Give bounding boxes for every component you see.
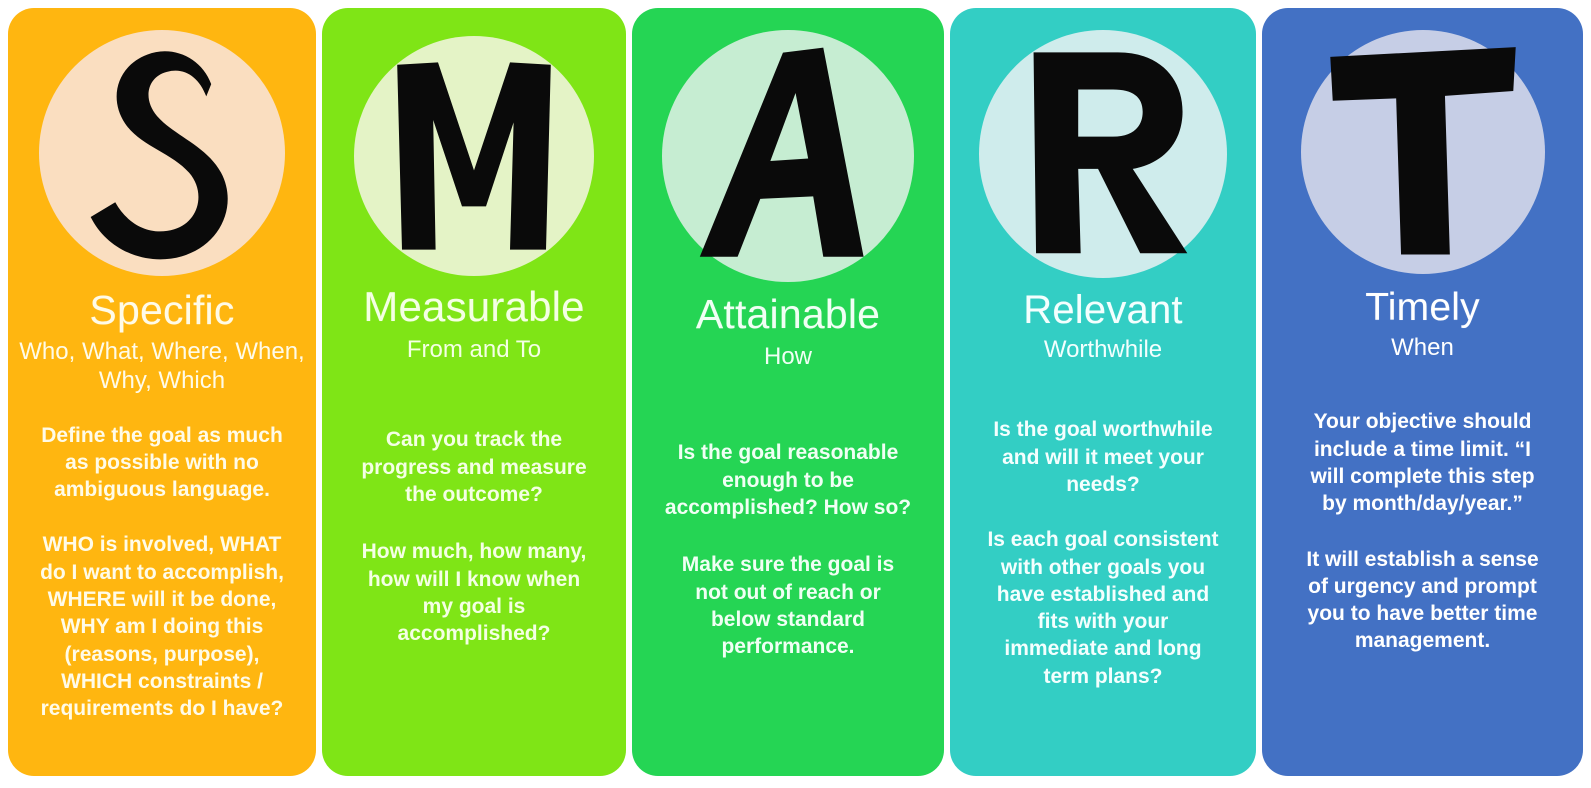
card-paragraph: It will establish a sense of urgency and… bbox=[1276, 546, 1569, 655]
card-relevant[interactable]: Relevant Worthwhile Is the goal worthwhi… bbox=[950, 8, 1256, 776]
card-subtitle: Who, What, Where, When, Why, Which bbox=[8, 337, 316, 396]
smart-goals-infographic: Specific Who, What, Where, When, Why, Wh… bbox=[0, 0, 1591, 788]
card-subtitle: How bbox=[632, 343, 944, 371]
card-body: Define the goal as much as possible with… bbox=[8, 422, 316, 723]
letter-badge-timely bbox=[1301, 30, 1545, 274]
card-specific[interactable]: Specific Who, What, Where, When, Why, Wh… bbox=[8, 8, 316, 776]
card-title: Measurable bbox=[322, 286, 626, 328]
letter-badge-specific bbox=[39, 30, 285, 276]
card-subtitle: From and To bbox=[322, 336, 626, 364]
card-body: Your objective should include a time lim… bbox=[1262, 408, 1583, 654]
card-paragraph: WHO is involved, WHAT do I want to accom… bbox=[22, 531, 302, 722]
card-title: Attainable bbox=[632, 294, 944, 335]
card-paragraph: Define the goal as much as possible with… bbox=[22, 422, 302, 504]
card-title: Relevant bbox=[950, 290, 1256, 330]
letter-s-glyph bbox=[39, 30, 285, 276]
card-body: Can you track the progress and measure t… bbox=[322, 426, 626, 647]
letter-badge-relevant bbox=[979, 30, 1227, 278]
card-paragraph: Is the goal worthwhile and will it meet … bbox=[964, 416, 1242, 498]
card-title: Specific bbox=[8, 290, 316, 331]
card-paragraph: Make sure the goal is not out of reach o… bbox=[646, 551, 930, 660]
card-title: Timely bbox=[1262, 288, 1583, 327]
letter-badge-measurable bbox=[354, 36, 594, 276]
letter-a-glyph bbox=[662, 30, 914, 282]
card-timely[interactable]: Timely When Your objective should includ… bbox=[1262, 8, 1583, 776]
card-paragraph: Can you track the progress and measure t… bbox=[336, 426, 612, 508]
letter-r-glyph bbox=[979, 30, 1227, 278]
card-paragraph: Is each goal consistent with other goals… bbox=[964, 526, 1242, 690]
letter-badge-attainable bbox=[662, 30, 914, 282]
card-paragraph: How much, how many, how will I know when… bbox=[336, 538, 612, 647]
card-subtitle: When bbox=[1262, 334, 1583, 362]
card-body: Is the goal worthwhile and will it meet … bbox=[950, 416, 1256, 690]
card-attainable[interactable]: Attainable How Is the goal reasonable en… bbox=[632, 8, 944, 776]
letter-t-glyph bbox=[1301, 30, 1545, 274]
card-measurable[interactable]: Measurable From and To Can you track the… bbox=[322, 8, 626, 776]
card-subtitle: Worthwhile bbox=[950, 336, 1256, 364]
card-paragraph: Is the goal reasonable enough to be acco… bbox=[646, 439, 930, 521]
card-paragraph: Your objective should include a time lim… bbox=[1276, 408, 1569, 517]
card-body: Is the goal reasonable enough to be acco… bbox=[632, 439, 944, 660]
letter-m-glyph bbox=[354, 36, 594, 276]
